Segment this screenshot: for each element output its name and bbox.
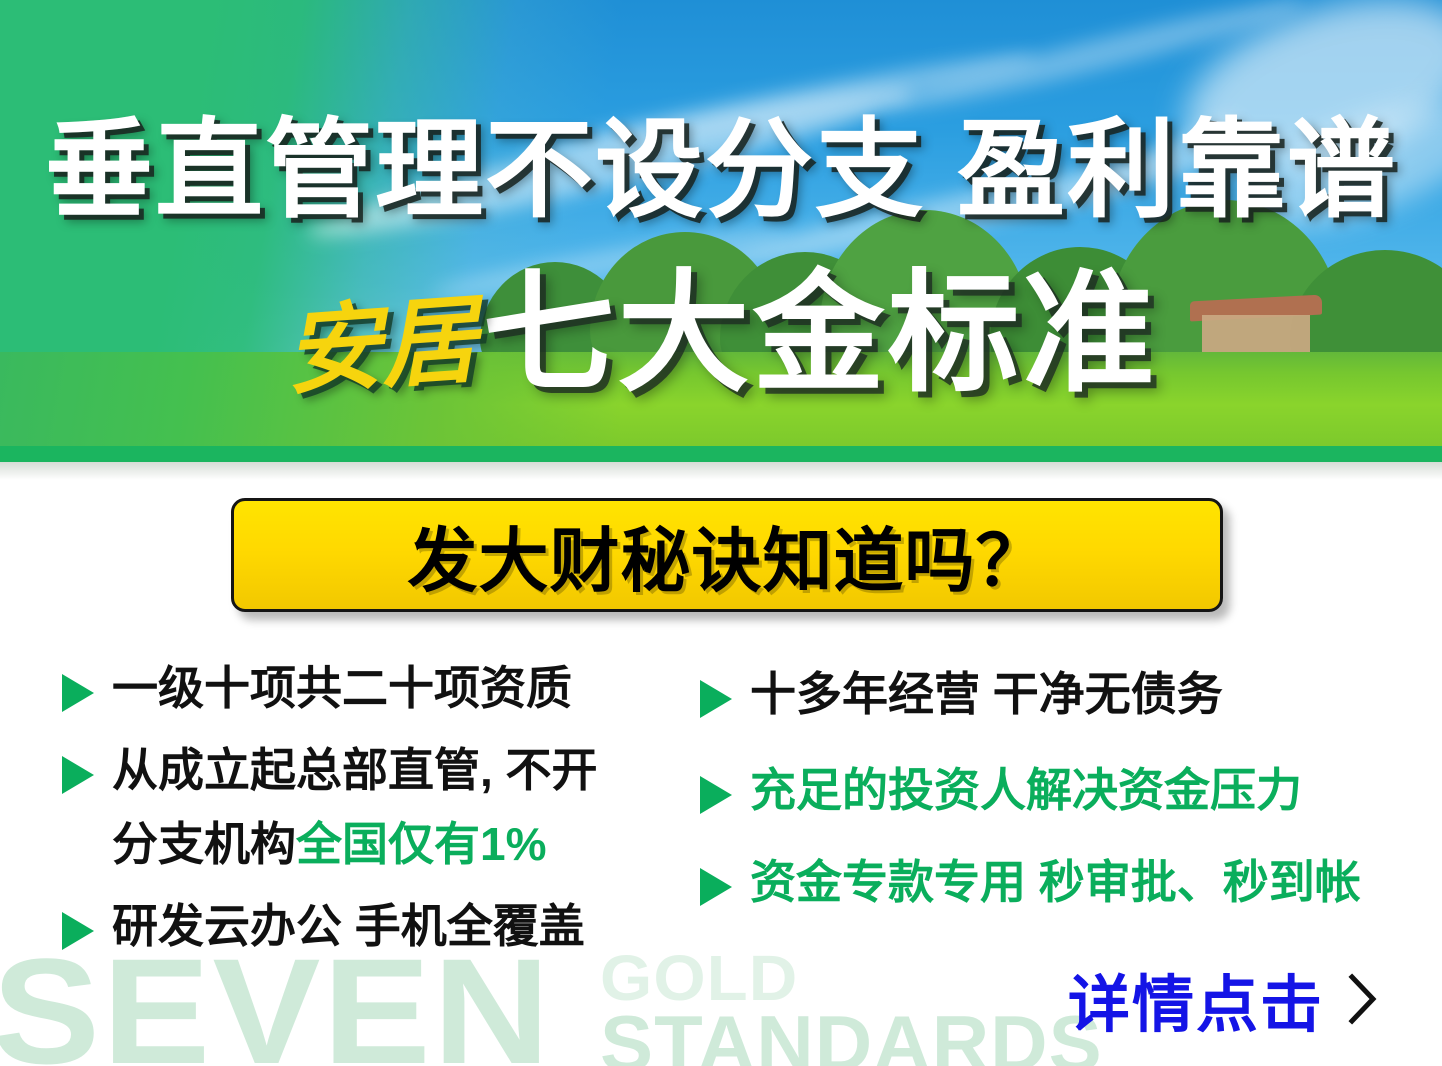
promo-poster: 垂直管理不设分支 盈利靠谱 安居 七大金标准 发大财秘诀知道吗？ 一级十项共二十… — [0, 0, 1442, 1066]
hero-headline-line1: 垂直管理不设分支 盈利靠谱 — [0, 116, 1442, 224]
feature-column-left: 一级十项共二十项资质 从成立起总部直管, 不开 分支机构全国仅有1% 研发云办公… — [62, 660, 702, 980]
details-cta-label: 详情点击 — [1068, 954, 1324, 1044]
play-triangle-icon — [62, 756, 94, 794]
feature-text: 一级十项共二十项资质 — [112, 660, 572, 716]
list-item: 充足的投资人解决资金压力 — [700, 762, 1420, 818]
feature-text-plain: 分支机构 — [112, 818, 296, 870]
hero-headline-main-text: 七大金标准 — [483, 268, 1158, 400]
play-triangle-icon — [700, 868, 732, 906]
feature-text: 资金专款专用 秒审批、秒到帐 — [750, 854, 1361, 910]
list-item: 一级十项共二十项资质 — [62, 660, 702, 716]
details-cta-link[interactable]: 详情点击 — [1068, 954, 1380, 1044]
play-triangle-icon — [700, 776, 732, 814]
feature-text: 研发云办公 手机全覆盖 — [112, 898, 585, 954]
play-triangle-icon — [700, 680, 732, 718]
hero-shadow — [0, 462, 1442, 480]
feature-text: 充足的投资人解决资金压力 — [750, 762, 1302, 818]
hero-banner: 垂直管理不设分支 盈利靠谱 安居 七大金标准 — [0, 0, 1442, 462]
list-item: 从成立起总部直管, 不开 — [62, 742, 702, 798]
hero-headline-line2: 安居 七大金标准 — [0, 268, 1442, 400]
brand-script-text: 安居 — [281, 291, 479, 400]
feature-text: 从成立起总部直管, 不开 — [112, 742, 598, 798]
play-triangle-icon — [62, 674, 94, 712]
feature-text-highlight: 全国仅有1% — [296, 818, 546, 870]
hero-bottom-band — [0, 446, 1442, 462]
chevron-right-icon — [1346, 971, 1380, 1027]
feature-text-second-line: 分支机构全国仅有1% — [112, 816, 702, 872]
list-item: 资金专款专用 秒审批、秒到帐 — [700, 854, 1420, 910]
feature-columns: 一级十项共二十项资质 从成立起总部直管, 不开 分支机构全国仅有1% 研发云办公… — [0, 660, 1442, 990]
feature-text: 十多年经营 干净无债务 — [750, 666, 1223, 722]
question-banner[interactable]: 发大财秘诀知道吗？ — [231, 498, 1223, 612]
play-triangle-icon — [62, 912, 94, 950]
watermark-standards-text: STANDARDS — [600, 1004, 1103, 1066]
feature-column-right: 十多年经营 干净无债务 充足的投资人解决资金压力 资金专款专用 秒审批、秒到帐 — [700, 660, 1420, 936]
list-item: 研发云办公 手机全覆盖 — [62, 898, 702, 954]
question-banner-label: 发大财秘诀知道吗？ — [408, 505, 1047, 606]
list-item: 十多年经营 干净无债务 — [700, 666, 1420, 722]
